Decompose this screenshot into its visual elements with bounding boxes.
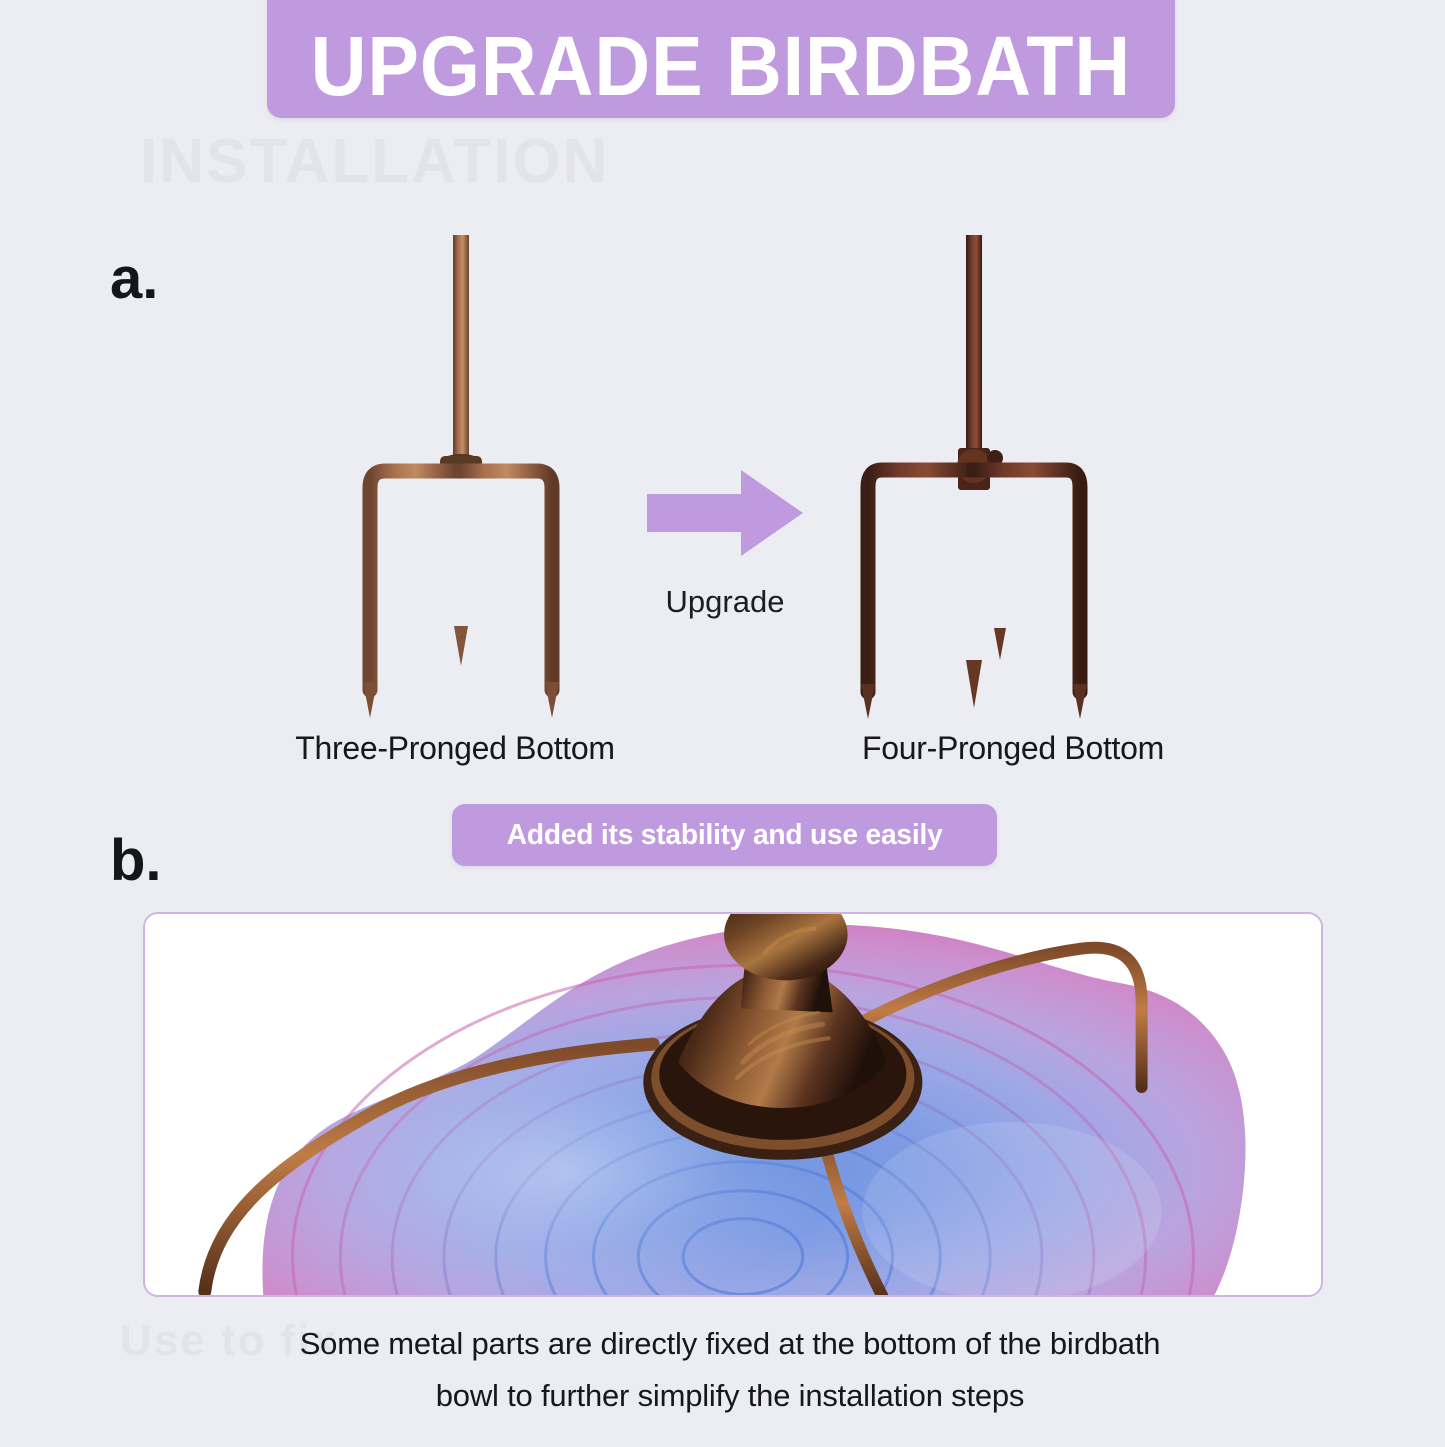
product-infographic: INSTALLATION Use to fix UPGRADE BIRDBATH… bbox=[0, 0, 1445, 1447]
upgrade-transition: Upgrade bbox=[640, 468, 810, 620]
photo-caption-line-2: bowl to further simplify the installatio… bbox=[180, 1370, 1280, 1422]
four-pronged-caption: Four-Pronged Bottom bbox=[783, 730, 1243, 767]
header-banner: UPGRADE BIRDBATH bbox=[267, 0, 1175, 118]
page-title: UPGRADE BIRDBATH bbox=[311, 24, 1131, 108]
stability-badge: Added its stability and use easily bbox=[452, 804, 997, 866]
upgrade-label: Upgrade bbox=[640, 584, 810, 620]
three-pronged-caption: Three-Pronged Bottom bbox=[225, 730, 685, 767]
four-pronged-stake-image bbox=[840, 230, 1140, 720]
three-pronged-stake-image bbox=[340, 230, 640, 720]
watermark-top: INSTALLATION bbox=[140, 126, 609, 197]
section-letter-b: b. bbox=[110, 832, 162, 890]
birdbath-photo-panel bbox=[143, 912, 1323, 1297]
photo-caption: Some metal parts are directly fixed at t… bbox=[180, 1318, 1280, 1422]
stability-badge-label: Added its stability and use easily bbox=[507, 819, 943, 852]
photo-caption-line-1: Some metal parts are directly fixed at t… bbox=[180, 1318, 1280, 1370]
birdbath-bowl-photo bbox=[145, 914, 1321, 1295]
arrow-right-icon bbox=[645, 468, 805, 558]
